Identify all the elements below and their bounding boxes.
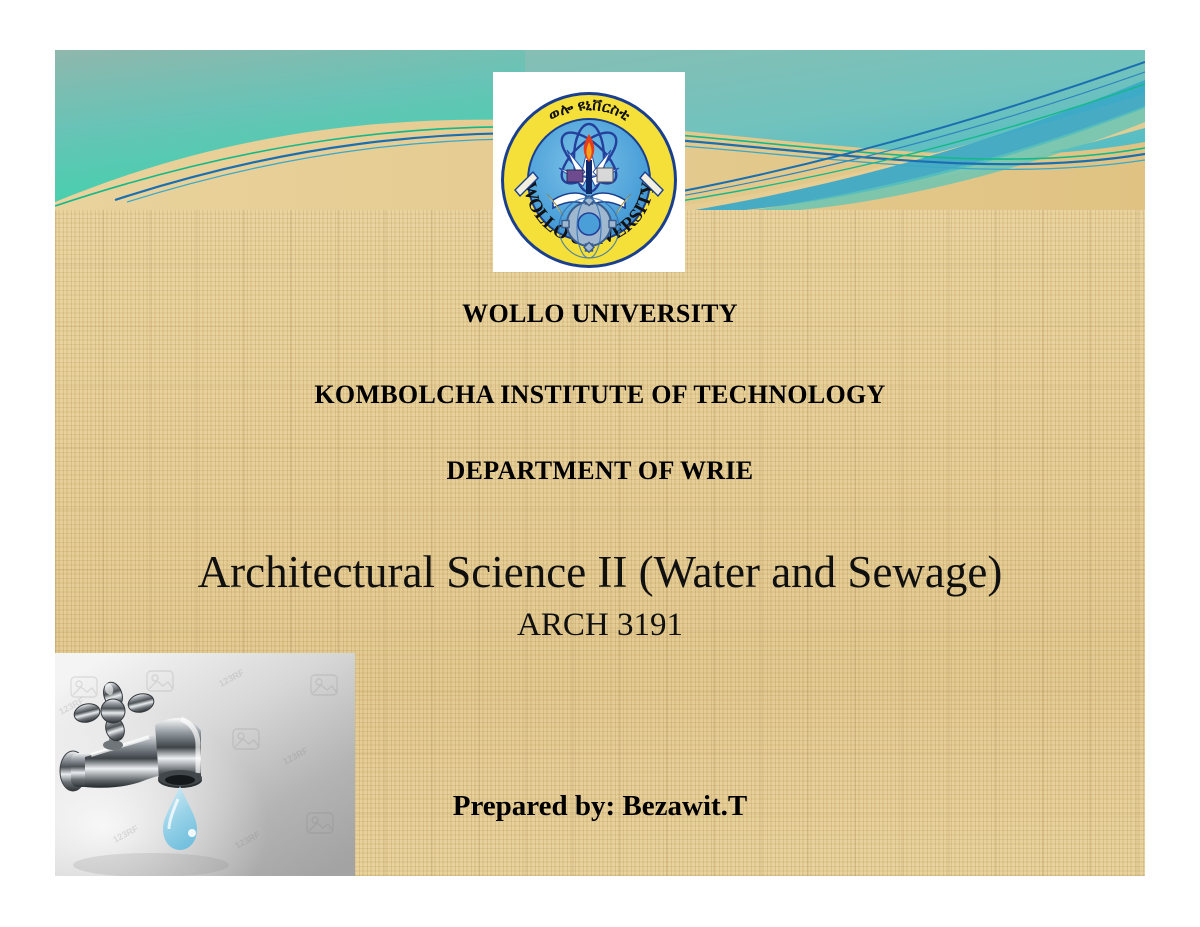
dripping-faucet-image: 123RF 123RF 123RF 123RF 123RF — [55, 653, 355, 876]
university-name: WOLLO UNIVERSITY — [55, 299, 1145, 329]
presentation-slide: ወሎ ዩኒቨርስቲ WOLLO UNIVERSITY — [55, 50, 1145, 876]
wollo-university-logo: ወሎ ዩኒቨርስቲ WOLLO UNIVERSITY — [493, 72, 685, 272]
prepared-by-label: Prepared by: Bezawit.T — [55, 790, 1145, 823]
department-name: DEPARTMENT OF WRIE — [55, 456, 1145, 486]
institute-name: KOMBOLCHA INSTITUTE OF TECHNOLOGY — [55, 380, 1145, 410]
course-code: ARCH 3191 — [55, 607, 1145, 644]
course-title: Architectural Science II (Water and Sewa… — [55, 546, 1145, 598]
